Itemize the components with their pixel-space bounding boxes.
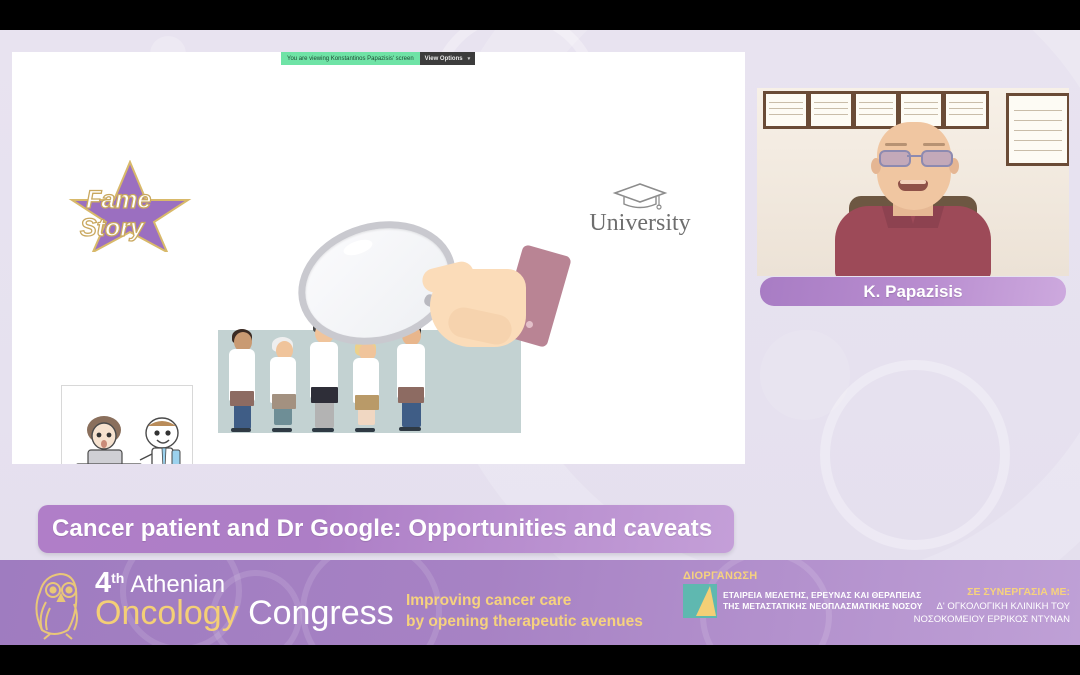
diploma-frame — [853, 91, 899, 129]
speaker-name-badge: K. Papazisis — [760, 277, 1066, 306]
collaboration-line-2: ΝΟΣΟΚΟΜΕΙΟΥ ΕΡΡΙΚΟΣ ΝΤΥΝΑΝ — [914, 613, 1070, 626]
share-status-text: You are viewing Konstantinos Papazisis' … — [281, 52, 420, 65]
doctors-illustration — [207, 217, 567, 452]
zoom-share-banner: You are viewing Konstantinos Papazisis' … — [281, 52, 475, 65]
fame-story-logo: Fame Story — [60, 160, 200, 252]
svg-text:Story: Story — [80, 214, 145, 242]
letterbox-top — [0, 0, 1080, 30]
speaker-name-label: K. Papazisis — [863, 282, 962, 302]
university-logo: University — [584, 180, 696, 235]
collaboration-block: ΣΕ ΣΥΝΕΡΓΑΣΙΑ ΜΕ: Δ' ΟΓΚΟΛΟΓΙΚΗ ΚΛΙΝΙΚΗ … — [914, 586, 1070, 627]
view-options-label: View Options — [425, 56, 463, 62]
svg-text:Fame: Fame — [86, 186, 151, 214]
graduation-cap-icon — [584, 180, 696, 210]
letterbox-bottom — [0, 645, 1080, 675]
diploma-frame — [943, 91, 989, 129]
congress-oncology: Oncology — [95, 594, 239, 632]
chevron-down-icon: ▾ — [468, 56, 471, 62]
view-options-button[interactable]: View Options ▾ — [420, 52, 475, 65]
doctor-figure — [270, 337, 304, 433]
collaboration-name: Δ' ΟΓΚΟΛΟΓΙΚΗ ΚΛΙΝΙΚΗ ΤΟΥ ΝΟΣΟΚΟΜΕΙΟΥ ΕΡ… — [914, 600, 1070, 627]
presentation-title: Cancer patient and Dr Google: Opportunit… — [38, 515, 712, 543]
organizer-block: ΔΙΟΡΓΑΝΩΣΗ ΕΤΑΙΡΕΙΑ ΜΕΛΕΤΗΣ, ΕΡΕΥΝΑΣ ΚΑΙ… — [683, 570, 923, 618]
eyeglasses-bridge — [907, 155, 921, 157]
owl-logo-icon — [30, 568, 92, 640]
shared-slide: Fame Story University — [12, 52, 745, 464]
collaboration-line-1: Δ' ΟΓΚΟΛΟΓΙΚΗ ΚΛΙΝΙΚΗ ΤΟΥ — [914, 600, 1070, 613]
hand-illustration — [422, 249, 562, 367]
speaker-video-feed[interactable] — [757, 88, 1069, 276]
collaboration-label: ΣΕ ΣΥΝΕΡΓΑΣΙΑ ΜΕ: — [914, 586, 1070, 598]
diploma-frame — [1006, 93, 1069, 166]
speaker-lip — [900, 180, 926, 184]
eyeglasses-icon — [879, 150, 911, 167]
cartoon-inset — [61, 385, 193, 464]
organizer-label: ΔΙΟΡΓΑΝΩΣΗ — [683, 570, 923, 582]
university-label: University — [584, 211, 696, 235]
congress-tagline: Improving cancer care by opening therape… — [406, 591, 643, 633]
doctor-figure — [229, 329, 263, 433]
broadcast-stage: LIVEMED Fame Story University — [0, 0, 1080, 675]
speaker-eyebrow — [885, 143, 907, 146]
speaker-eyebrow — [923, 143, 945, 146]
congress-congress: Congress — [248, 594, 394, 632]
doctor-figure — [353, 339, 387, 433]
eyeglasses-icon — [921, 150, 953, 167]
tagline-line-1: Improving cancer care — [406, 591, 643, 612]
organizer-name-line-1: ΕΤΑΙΡΕΙΑ ΜΕΛΕΤΗΣ, ΕΡΕΥΝΑΣ ΚΑΙ ΘΕΡΑΠΕΙΑΣ — [723, 590, 923, 601]
organizer-logo-icon — [683, 584, 717, 618]
speaker-torso — [835, 206, 991, 276]
congress-title: 4thAthenian Oncology Congress — [95, 569, 394, 632]
presentation-title-banner: Cancer patient and Dr Google: Opportunit… — [38, 505, 734, 553]
organizer-name: ΕΤΑΙΡΕΙΑ ΜΕΛΕΤΗΣ, ΕΡΕΥΝΑΣ ΚΑΙ ΘΕΡΑΠΕΙΑΣ … — [723, 590, 923, 613]
tagline-line-2: by opening therapeutic avenues — [406, 612, 643, 633]
diploma-frame — [808, 91, 854, 129]
diploma-frame — [763, 91, 809, 129]
congress-ordinal-suffix: th — [111, 570, 124, 586]
background-circle — [820, 360, 1010, 550]
organizer-name-line-2: ΤΗΣ ΜΕΤΑΣΤΑΤΙΚΗΣ ΝΕΟΠΛΑΣΜΑΤΙΚΗΣ ΝΟΣΟΥ — [723, 601, 923, 612]
